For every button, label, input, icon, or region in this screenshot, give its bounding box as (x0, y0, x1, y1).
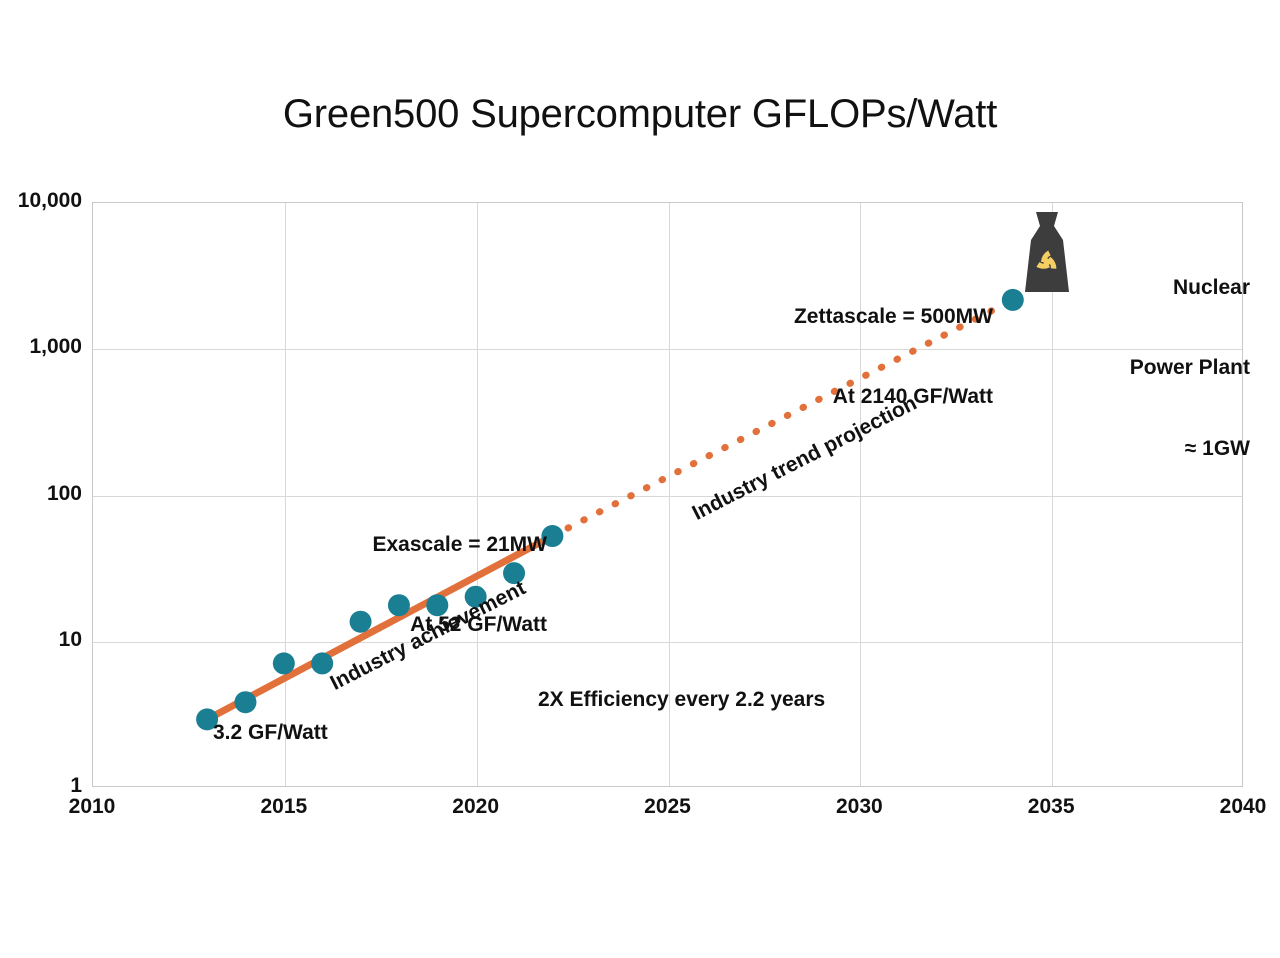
efficiency-note: 2X Efficiency every 2.2 years (538, 687, 825, 714)
y-tick-1000: 1,000 (0, 335, 82, 359)
y-tick-10000: 10,000 (0, 189, 82, 213)
nuclear-callout-line3: ≈ 1GW (1060, 436, 1250, 463)
nuclear-callout-line2: Power Plant (1060, 355, 1250, 382)
exascale-callout-line2: At 52 GF/Watt (204, 612, 547, 639)
x-tick-2015: 2015 (239, 795, 329, 819)
zettascale-callout: Zettascale = 500MW At 2140 GF/Watt (624, 250, 993, 465)
nuclear-power-plant-callout: Nuclear Power Plant ≈ 1GW (1060, 221, 1250, 517)
zettascale-callout-line2: At 2140 GF/Watt (624, 384, 993, 411)
exascale-callout-line1: Exascale = 21MW (204, 532, 547, 559)
x-tick-2040: 2040 (1198, 795, 1280, 819)
x-tick-2025: 2025 (623, 795, 713, 819)
nuclear-callout-line1: Nuclear (1060, 275, 1250, 302)
x-tick-2020: 2020 (431, 795, 521, 819)
x-tick-2035: 2035 (1006, 795, 1096, 819)
x-tick-2010: 2010 (47, 795, 137, 819)
zettascale-callout-line1: Zettascale = 500MW (624, 304, 993, 331)
y-tick-10: 10 (0, 628, 82, 652)
page-title: Green500 Supercomputer GFLOPs/Watt (0, 92, 1280, 137)
start-point-callout: 3.2 GF/Watt (213, 720, 328, 747)
y-tick-100: 100 (0, 482, 82, 506)
data-point (234, 691, 256, 713)
slide-canvas: Green500 Supercomputer GFLOPs/Watt 11010… (0, 0, 1280, 958)
exascale-callout: Exascale = 21MW At 52 GF/Watt (204, 478, 547, 693)
x-tick-2030: 2030 (814, 795, 904, 819)
